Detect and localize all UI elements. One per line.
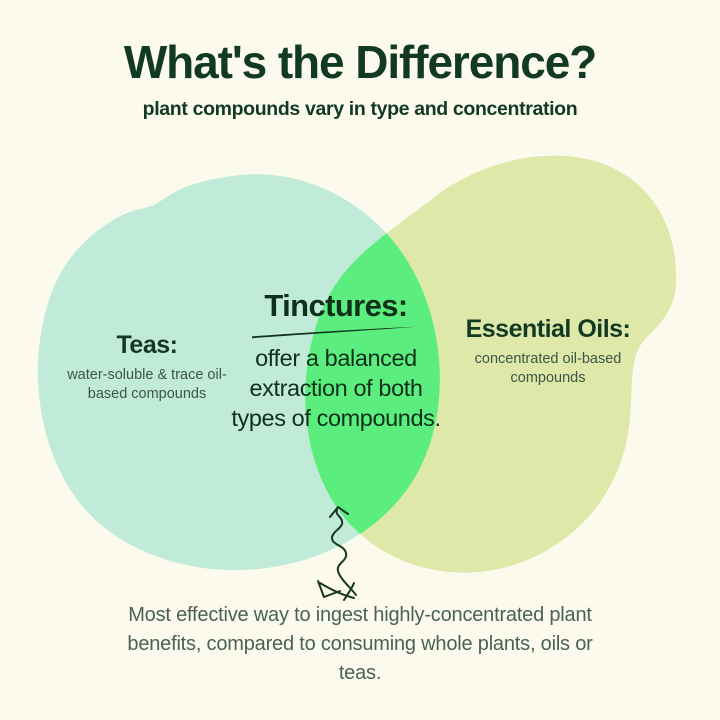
label-tinctures: Tinctures: offer a balanced extraction o… (222, 288, 450, 433)
squiggle-arrow-icon (300, 495, 400, 605)
essential-oils-description: concentrated oil-based compounds (463, 344, 633, 388)
bottom-caption: Most effective way to ingest highly-conc… (110, 601, 610, 688)
teas-heading: Teas: (58, 330, 236, 360)
underline-swash-icon (222, 324, 450, 340)
page-title: What's the Difference? (0, 0, 720, 88)
essential-oils-heading: Essential Oils: (463, 314, 633, 344)
page-subtitle: plant compounds vary in type and concent… (0, 88, 720, 121)
tinctures-description: offer a balanced extraction of both type… (222, 340, 450, 433)
infographic-canvas: What's the Difference? plant compounds v… (0, 0, 720, 720)
label-teas: Teas: water-soluble & trace oil-based co… (58, 330, 236, 404)
header: What's the Difference? plant compounds v… (0, 0, 720, 121)
teas-description: water-soluble & trace oil-based compound… (58, 360, 236, 404)
label-essential-oils: Essential Oils: concentrated oil-based c… (463, 314, 633, 388)
tinctures-heading: Tinctures: (222, 288, 450, 324)
